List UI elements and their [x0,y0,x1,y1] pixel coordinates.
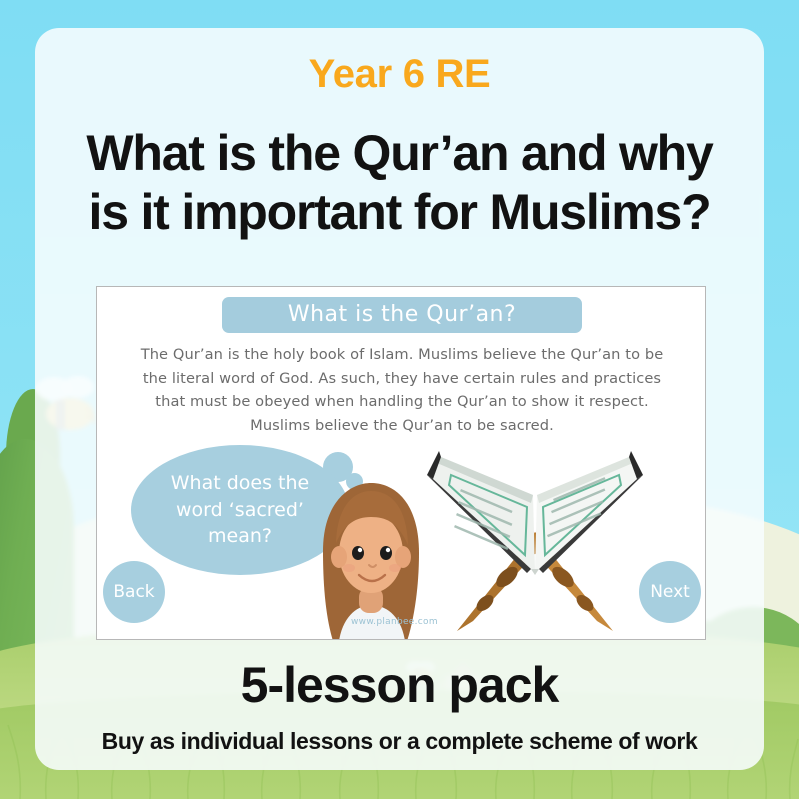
quran-on-rehal-icon [415,435,655,640]
slide-banner-title: What is the Qur’an? [222,297,582,333]
page-title-line-1: What is the Qur’an and why [45,124,754,183]
pack-label: 5-lesson pack [35,656,764,714]
buy-description-label: Buy as individual lessons or a complete … [35,728,764,755]
page-title-line-2: is it important for Muslims? [45,183,754,242]
watermark-text: www.planbee.com [351,617,438,627]
girl-character-icon [303,473,433,640]
content-card: Year 6 RE What is the Qur’an and why is … [35,28,764,770]
slide-preview[interactable]: What is the Qur’an? The Qur’an is the ho… [96,286,706,640]
page-title: What is the Qur’an and why is it importa… [45,124,754,242]
next-button[interactable]: Next [639,561,701,623]
scene-background: Year 6 RE What is the Qur’an and why is … [0,0,799,799]
back-button[interactable]: Back [103,561,165,623]
slide-body-text: The Qur’an is the holy book of Islam. Mu… [131,343,673,438]
year-subject-label: Year 6 RE [35,52,764,97]
